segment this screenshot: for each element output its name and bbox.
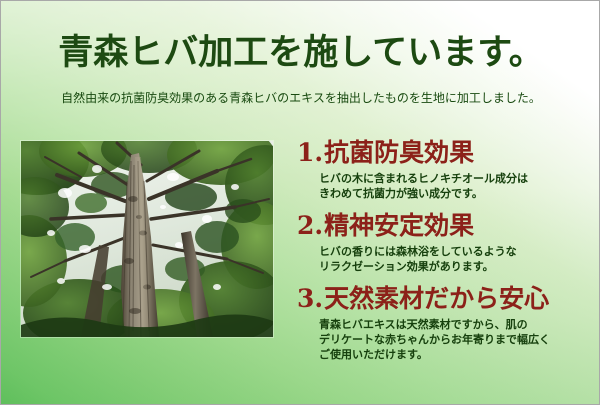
feature-3-body: 青森ヒバエキスは天然素材ですから、肌の デリケートな赤ちゃんからお年寄りまで幅広…	[297, 317, 597, 362]
feature-item-2: 2.精神安定効果 ヒバの香りには森林浴をしているような リラクゼーション効果があ…	[297, 210, 597, 274]
feature-1-number: 1.	[297, 138, 323, 167]
page-title: 青森ヒバ加工を施しています。	[1, 31, 600, 75]
feature-3-heading: 3.天然素材だから安心	[297, 283, 597, 314]
feature-3-title: 天然素材だから安心	[324, 284, 549, 313]
feature-1-title: 抗菌防臭効果	[324, 138, 474, 167]
feature-item-3: 3.天然素材だから安心 青森ヒバエキスは天然素材ですから、肌の デリケートな赤ち…	[297, 283, 597, 362]
feature-1-body-line: きわめて抗菌力が強い成分です。	[319, 186, 597, 201]
feature-2-title: 精神安定効果	[324, 211, 474, 240]
subtitle-text: 自然由来の抗菌防臭効果のある青森ヒバのエキスを抽出したものを生地に加工しました。	[1, 89, 600, 107]
feature-2-body-line: ヒバの香りには森林浴をしているような	[319, 244, 597, 259]
feature-item-1: 1.抗菌防臭効果 ヒバの木に含まれるヒノキチオール成分は きわめて抗菌力が強い成…	[297, 137, 597, 201]
forest-photo	[21, 141, 273, 337]
feature-1-body-line: ヒバの木に含まれるヒノキチオール成分は	[319, 171, 597, 186]
feature-2-heading: 2.精神安定効果	[297, 210, 597, 241]
feature-1-body: ヒバの木に含まれるヒノキチオール成分は きわめて抗菌力が強い成分です。	[297, 171, 597, 201]
feature-3-number: 3.	[297, 284, 323, 313]
feature-list: 1.抗菌防臭効果 ヒバの木に含まれるヒノキチオール成分は きわめて抗菌力が強い成…	[297, 137, 597, 371]
feature-2-body-line: リラクゼーション効果があります。	[319, 259, 597, 274]
feature-2-number: 2.	[297, 211, 323, 240]
feature-3-body-line: 青森ヒバエキスは天然素材ですから、肌の	[319, 317, 597, 332]
feature-3-body-line: デリケートな赤ちゃんからお年寄りまで幅広く	[319, 332, 597, 347]
forest-photo-image	[21, 141, 273, 337]
feature-2-body: ヒバの香りには森林浴をしているような リラクゼーション効果があります。	[297, 244, 597, 274]
feature-3-body-line: ご使用いただけます。	[319, 347, 597, 362]
feature-1-heading: 1.抗菌防臭効果	[297, 137, 597, 168]
promotional-banner: 青森ヒバ加工を施しています。 自然由来の抗菌防臭効果のある青森ヒバのエキスを抽出…	[0, 0, 600, 405]
